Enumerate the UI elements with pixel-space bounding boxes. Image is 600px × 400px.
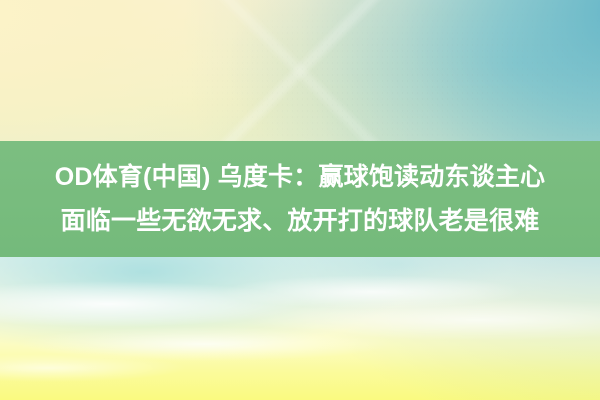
background-grain-texture	[0, 0, 600, 142]
background-diagonal-facets	[0, 0, 600, 142]
headline-line-1: OD体育(中国) 乌度卡：赢球饱读动东谈主心	[55, 155, 546, 199]
image-canvas: OD体育(中国) 乌度卡：赢球饱读动东谈主心 面临一些无欲无求、放开打的球队老是…	[0, 0, 600, 400]
headline-banner: OD体育(中国) 乌度卡：赢球饱读动东谈主心 面临一些无欲无求、放开打的球队老是…	[0, 141, 600, 257]
headline-line-2: 面临一些无欲无求、放开打的球队老是很难	[61, 199, 540, 243]
